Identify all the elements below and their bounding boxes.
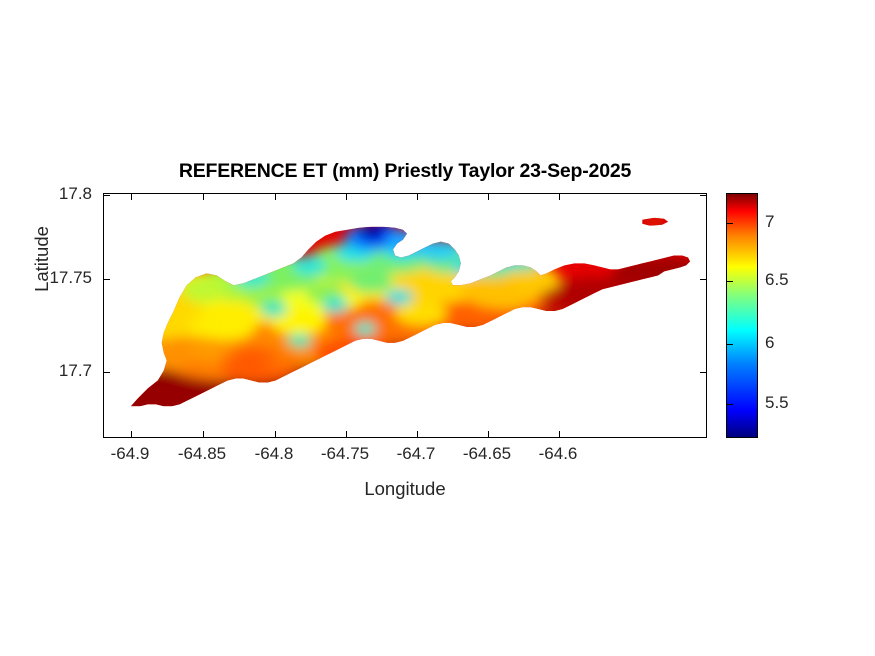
matlab-figure: REFERENCE ET (mm) Priestly Taylor 23-Sep… <box>0 0 875 656</box>
ytick-mark-right <box>700 195 706 196</box>
xtick-label: -64.6 <box>539 444 578 464</box>
xtick-mark-top <box>559 194 560 200</box>
colorbar-tick-label: 7 <box>765 212 774 232</box>
colorbar-tick-label: 6.5 <box>765 270 789 290</box>
xtick-label: -64.8 <box>255 444 294 464</box>
ytick-label: 17.7 <box>20 361 92 381</box>
y-axis-label: Latitude <box>31 199 53 319</box>
xtick-mark <box>203 431 204 437</box>
xtick-label: -64.65 <box>463 444 511 464</box>
colorbar-tick-label: 5.5 <box>765 393 789 413</box>
x-axis-label: Longitude <box>103 478 707 500</box>
colorbar[interactable] <box>726 193 758 438</box>
ytick-mark-right <box>700 279 706 280</box>
xtick-mark-top <box>417 194 418 200</box>
xtick-label: -64.7 <box>397 444 436 464</box>
page-title: REFERENCE ET (mm) Priestly Taylor 23-Sep… <box>103 160 707 183</box>
map-raster-clip <box>104 194 706 437</box>
xtick-mark-top <box>131 194 132 200</box>
xtick-mark <box>131 431 132 437</box>
xtick-mark <box>559 431 560 437</box>
et-heatmap-raster <box>104 194 706 437</box>
xtick-mark-top <box>275 194 276 200</box>
xtick-mark <box>488 431 489 437</box>
ytick-mark <box>104 372 110 373</box>
xtick-mark <box>346 431 347 437</box>
map-axes[interactable] <box>103 193 707 438</box>
xtick-mark-top <box>203 194 204 200</box>
xtick-mark-top <box>488 194 489 200</box>
colorbar-tick <box>726 281 733 282</box>
colorbar-tick-label: 6 <box>765 333 774 353</box>
ytick-mark <box>104 195 110 196</box>
xtick-mark <box>417 431 418 437</box>
xtick-mark <box>275 431 276 437</box>
xtick-label: -64.9 <box>111 444 150 464</box>
xtick-label: -64.75 <box>321 444 369 464</box>
xtick-mark-top <box>346 194 347 200</box>
ytick-mark <box>104 279 110 280</box>
colorbar-tick <box>726 223 733 224</box>
colorbar-tick <box>726 404 733 405</box>
xtick-label: -64.85 <box>178 444 226 464</box>
ytick-mark-right <box>700 372 706 373</box>
colorbar-tick <box>726 344 733 345</box>
